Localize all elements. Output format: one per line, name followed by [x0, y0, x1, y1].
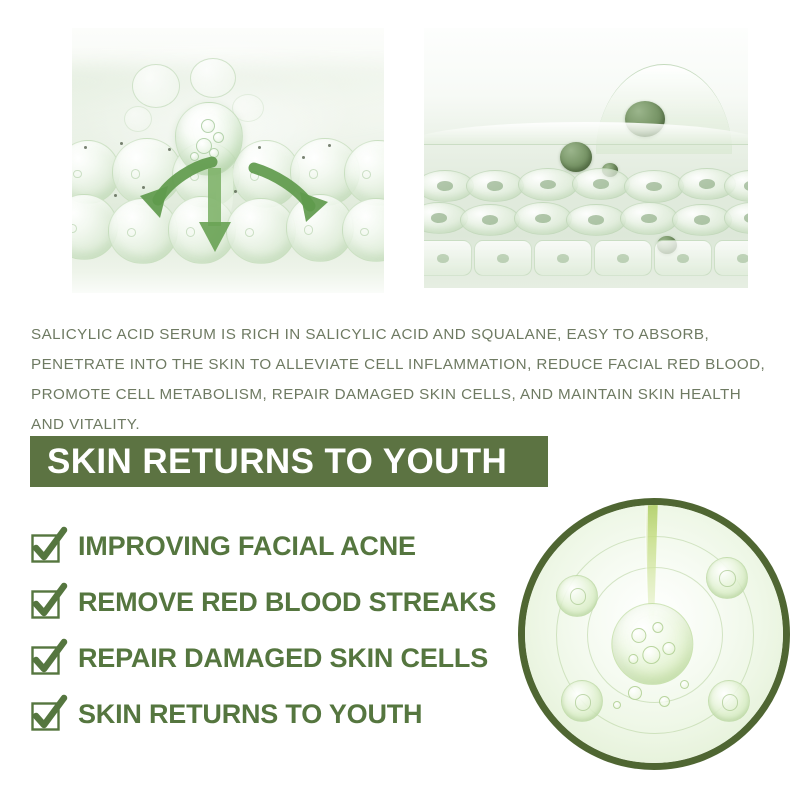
checkbox-checked-icon [30, 585, 64, 619]
bubble [659, 696, 670, 707]
arrow-straight-down-icon [197, 168, 233, 254]
floating-cell [132, 64, 180, 108]
checkbox-checked-icon [30, 641, 64, 675]
skin-cell-oval [572, 168, 630, 200]
micro-bubble [201, 119, 215, 133]
basal-cell [474, 240, 532, 276]
product-description: Salicylic acid serum is rich in salicyli… [31, 320, 773, 440]
floating-cell [124, 106, 152, 132]
surface-dimple [706, 557, 748, 599]
photo-row [0, 0, 800, 300]
skin-cell-oval [466, 170, 524, 202]
benefit-item-repair-damaged-skin-cells: REPAIR DAMAGED SKIN CELLS [30, 630, 540, 686]
basal-cell [534, 240, 592, 276]
basal-cell [714, 240, 748, 276]
speck [234, 190, 237, 193]
headline-text: SKIN RETURNS TO YOUTH [30, 442, 507, 482]
bubble [613, 701, 621, 709]
skin-cell-oval [460, 204, 520, 236]
bubble [662, 642, 675, 655]
skin-cell-oval [624, 170, 684, 203]
product-photo-inner [525, 505, 783, 763]
headline-banner: SKIN RETURNS TO YOUTH [30, 436, 548, 487]
surface-dimple [561, 680, 603, 722]
floating-cell [190, 58, 236, 98]
checkbox-checked-icon [30, 697, 64, 731]
speck [168, 148, 171, 151]
checkbox-checked-icon [30, 529, 64, 563]
benefit-item-skin-returns-to-youth: SKIN RETURNS TO YOUTH [30, 686, 540, 742]
benefit-list: IMPROVING FACIAL ACNE REMOVE RED BLOOD S… [30, 518, 540, 742]
surface-dimple [708, 680, 750, 722]
speck [258, 146, 261, 149]
arrow-curve-right-icon [248, 162, 344, 232]
serum-droplet [611, 603, 693, 685]
bubble [628, 686, 642, 700]
benefit-item-improving-facial-acne: IMPROVING FACIAL ACNE [30, 518, 540, 574]
speck [114, 194, 117, 197]
benefit-label: IMPROVING FACIAL ACNE [78, 531, 416, 562]
skin-cell-oval [514, 202, 572, 235]
skin-cell-oval [672, 204, 732, 236]
bubble [652, 622, 663, 633]
speck [328, 144, 331, 147]
skin-cell-oval [566, 204, 626, 236]
benefit-label: SKIN RETURNS TO YOUTH [78, 699, 422, 730]
bubble [628, 654, 638, 664]
basal-cell [594, 240, 652, 276]
speck [120, 142, 123, 145]
surface-dimple [556, 575, 598, 617]
benefit-label: REMOVE RED BLOOD STREAKS [78, 587, 496, 618]
micro-bubble [213, 132, 224, 143]
benefit-label: REPAIR DAMAGED SKIN CELLS [78, 643, 488, 674]
skin-cell-oval [518, 168, 578, 201]
image-serum-absorption [72, 28, 384, 293]
image-product-serum-circle [518, 498, 790, 770]
basal-cell [654, 240, 712, 276]
basal-cell [424, 240, 472, 276]
skin-cell-oval [620, 202, 678, 235]
image-skin-cross-section [424, 28, 748, 288]
benefit-item-remove-red-blood-streaks: REMOVE RED BLOOD STREAKS [30, 574, 540, 630]
speck [84, 146, 87, 149]
speck [302, 156, 305, 159]
bubble [632, 628, 647, 643]
bubble [643, 646, 661, 664]
